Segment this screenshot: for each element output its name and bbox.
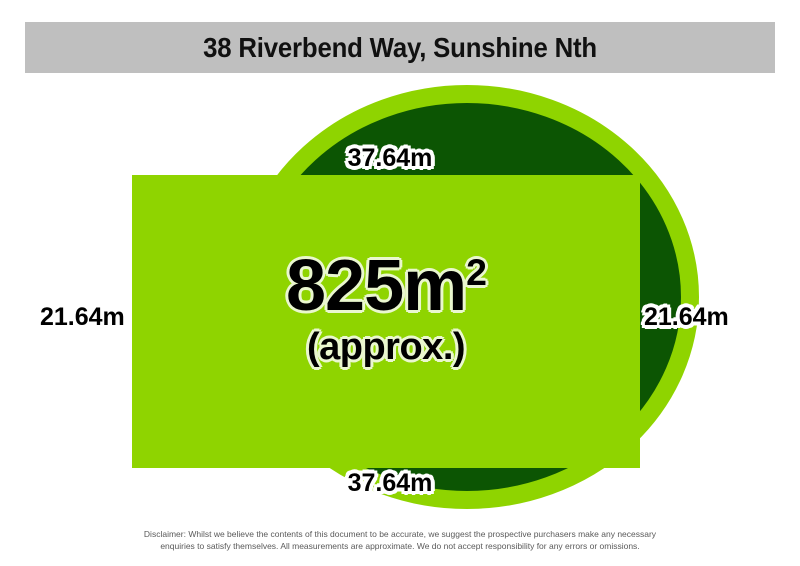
area-qualifier: (approx.)	[132, 328, 640, 366]
measurement-top-value: 37.64m	[348, 144, 433, 172]
measurement-label-left: 21.64m	[40, 305, 125, 330]
title-bar: 38 Riverbend Way, Sunshine Nth	[25, 22, 775, 73]
measurement-left-value: 21.64m	[40, 303, 125, 331]
measurement-label-right: 21.64m	[644, 305, 729, 330]
area-block: 825m2 (approx.)	[132, 250, 640, 366]
measurement-label-bottom: 37.64m	[0, 471, 790, 496]
measurement-right-value: 21.64m	[644, 303, 729, 331]
site-plan-page: 38 Riverbend Way, Sunshine Nth 37.64m 37…	[0, 0, 800, 566]
disclaimer-text: Disclaimer: Whilst we believe the conten…	[140, 528, 660, 553]
area-value: 825m2	[132, 250, 640, 322]
measurement-bottom-value: 37.64m	[348, 469, 433, 497]
area-number: 825m	[286, 246, 466, 326]
measurement-label-top: 37.64m	[0, 146, 790, 171]
page-title: 38 Riverbend Way, Sunshine Nth	[203, 32, 597, 64]
area-superscript: 2	[466, 251, 486, 293]
